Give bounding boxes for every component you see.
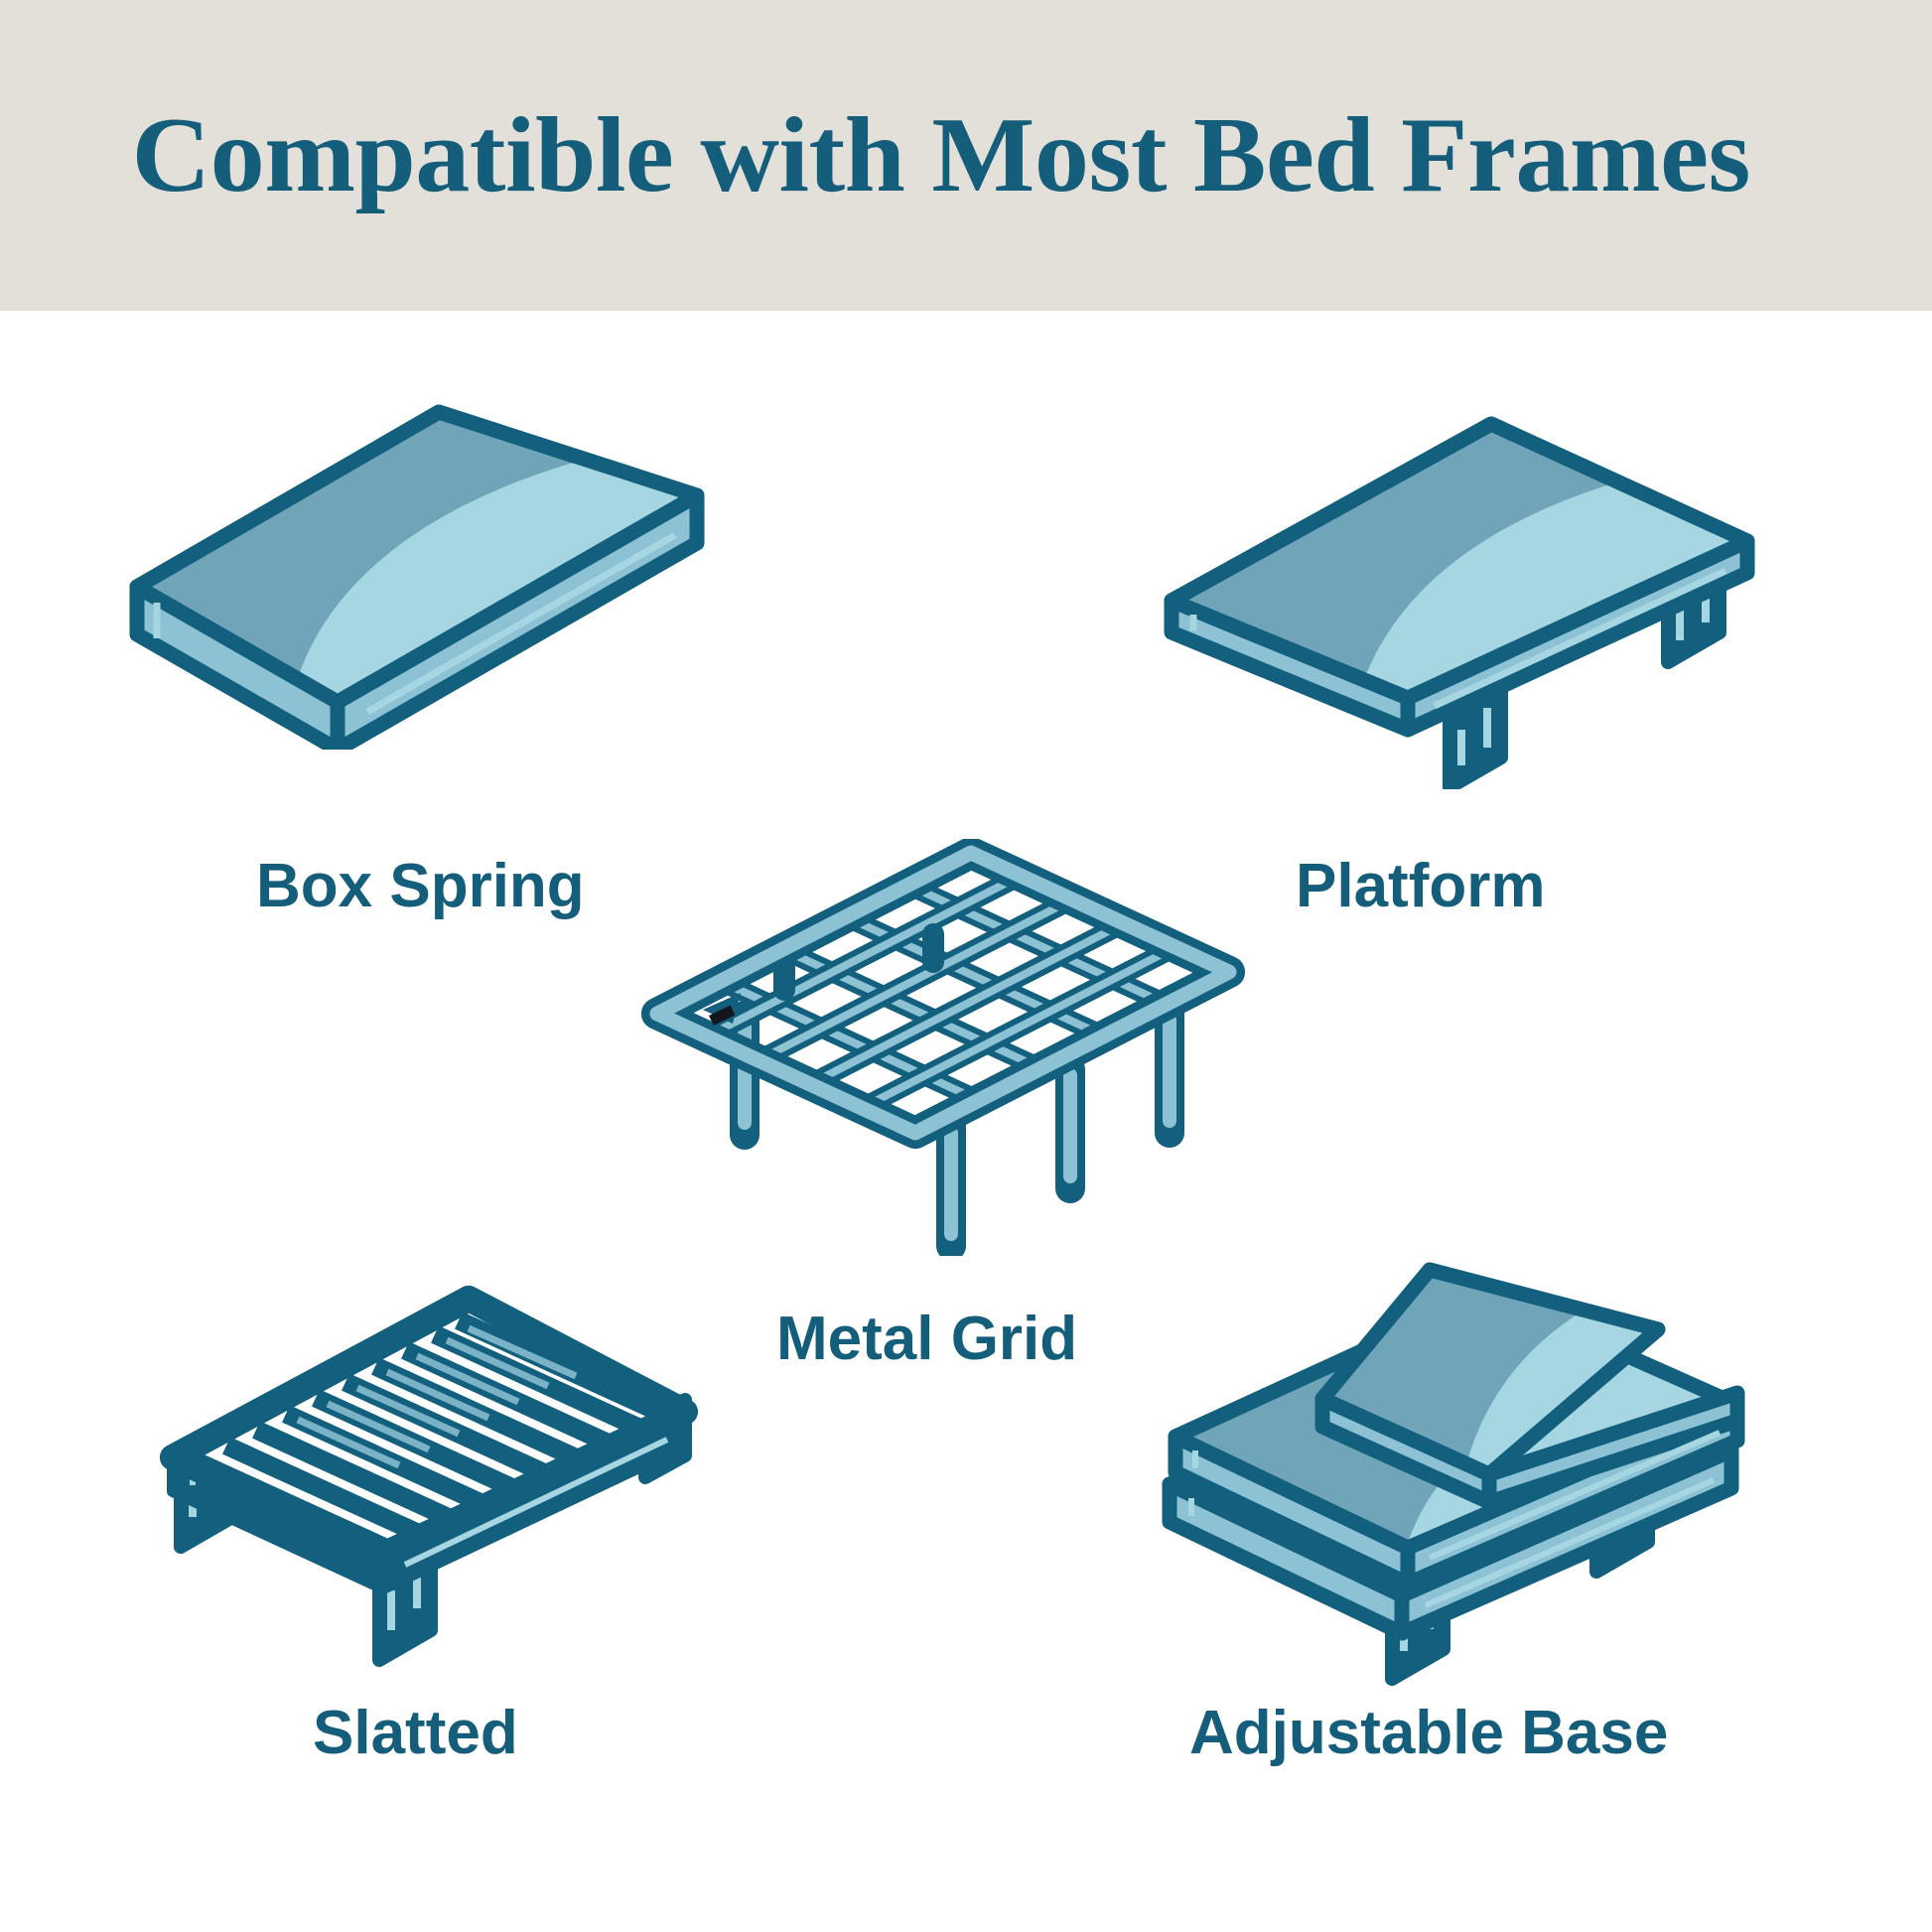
box-spring-icon <box>119 392 715 750</box>
caption-slatted: Slatted <box>313 1703 518 1764</box>
metal-grid-illustration <box>635 839 1251 1256</box>
page-title: Compatible with Most Bed Frames <box>0 102 1750 209</box>
box-spring-illustration <box>119 392 715 750</box>
slatted-illustration <box>149 1281 705 1678</box>
adjustable-base-illustration <box>1132 1256 1767 1698</box>
header-band: Compatible with Most Bed Frames <box>0 0 1932 311</box>
infographic-page: Compatible with Most Bed Frames Box Spri… <box>0 0 1932 1932</box>
platform-icon <box>1152 402 1767 789</box>
platform-illustration <box>1152 402 1767 789</box>
caption-box-spring: Box Spring <box>256 856 585 917</box>
caption-metal-grid: Metal Grid <box>776 1309 1077 1370</box>
slatted-icon <box>149 1281 705 1678</box>
caption-adjustable-base: Adjustable Base <box>1189 1703 1668 1764</box>
caption-platform: Platform <box>1296 856 1545 917</box>
adjustable-base-icon <box>1132 1256 1767 1698</box>
metal-grid-icon <box>635 839 1251 1256</box>
